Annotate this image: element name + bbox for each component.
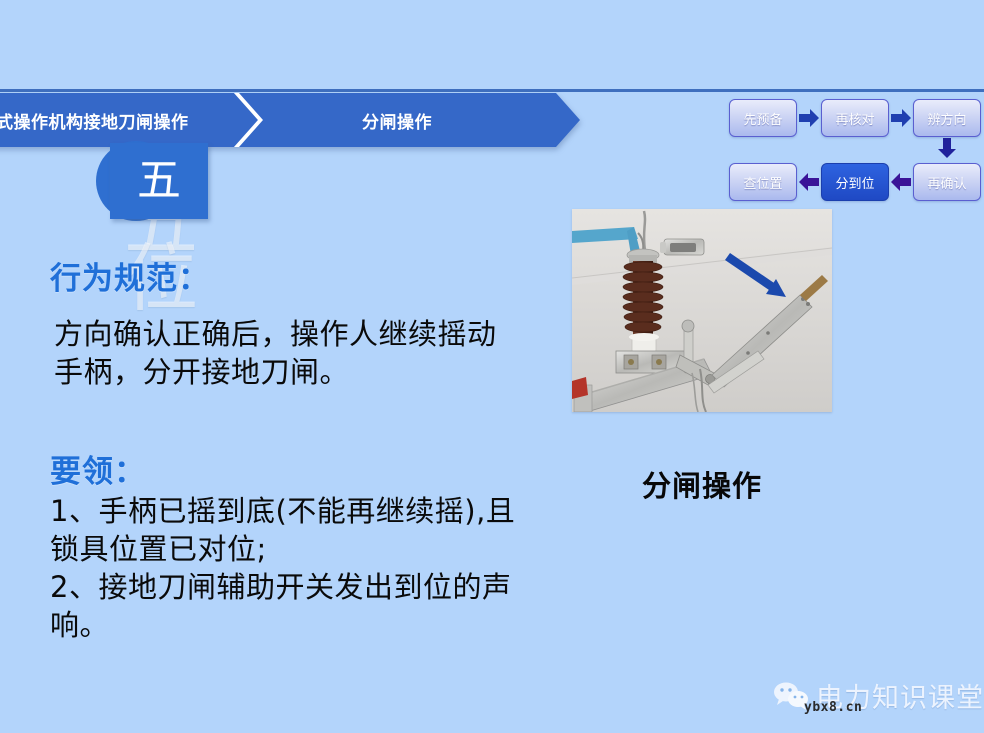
flow-arrow-down (937, 137, 957, 159)
behavior-norm-heading: 行为规范： (50, 253, 210, 298)
site-watermark-label: ybx8.cn (804, 700, 862, 715)
photo-caption: 分闸操作 (572, 463, 832, 505)
flow-step-5-active[interactable]: 分到位 (821, 163, 889, 201)
flow-arrow-left-1 (890, 172, 912, 192)
header-banner: 式操作机构接地刀闸操作 分闸操作 (0, 93, 580, 147)
banner-segment-context-label: 式操作机构接地刀闸操作 (0, 108, 189, 133)
banner-segment-context: 式操作机构接地刀闸操作 (0, 93, 258, 147)
step-number-badge: 五 (110, 143, 208, 219)
key-points-text: 1、手柄已摇到底(不能再继续摇),且锁具位置已对位; 2、接地刀闸辅助开关发出到… (50, 492, 520, 644)
flow-step-1[interactable]: 先预备 (729, 99, 797, 137)
banner-segment-current: 分闸操作 (238, 93, 580, 147)
operation-photo (572, 209, 832, 412)
banner-segment-current-label: 分闸操作 (362, 108, 432, 133)
flow-step-6[interactable]: 再确认 (913, 163, 981, 201)
process-flow-diagram: 先预备 再核对 辨方向 查位置 分到位 再确认 (729, 99, 981, 205)
key-points-heading: 要领： (50, 446, 146, 491)
flow-arrow-right-1 (798, 108, 820, 128)
flow-step-4[interactable]: 查位置 (729, 163, 797, 201)
flow-step-2[interactable]: 再核对 (821, 99, 889, 137)
slide-canvas: 分 五 位 式操作机构接地刀闸操作 分闸操作 五 行为规范： 方向确认正确后，操… (0, 0, 984, 733)
flow-step-3[interactable]: 辨方向 (913, 99, 981, 137)
operation-photo-illustration (572, 209, 832, 412)
badge-number-label: 五 (110, 143, 208, 219)
behavior-norm-text: 方向确认正确后，操作人继续摇动手柄，分开接地刀闸。 (54, 315, 524, 391)
flow-arrow-left-2 (798, 172, 820, 192)
header-divider-rule (0, 89, 984, 92)
flow-arrow-right-2 (890, 108, 912, 128)
